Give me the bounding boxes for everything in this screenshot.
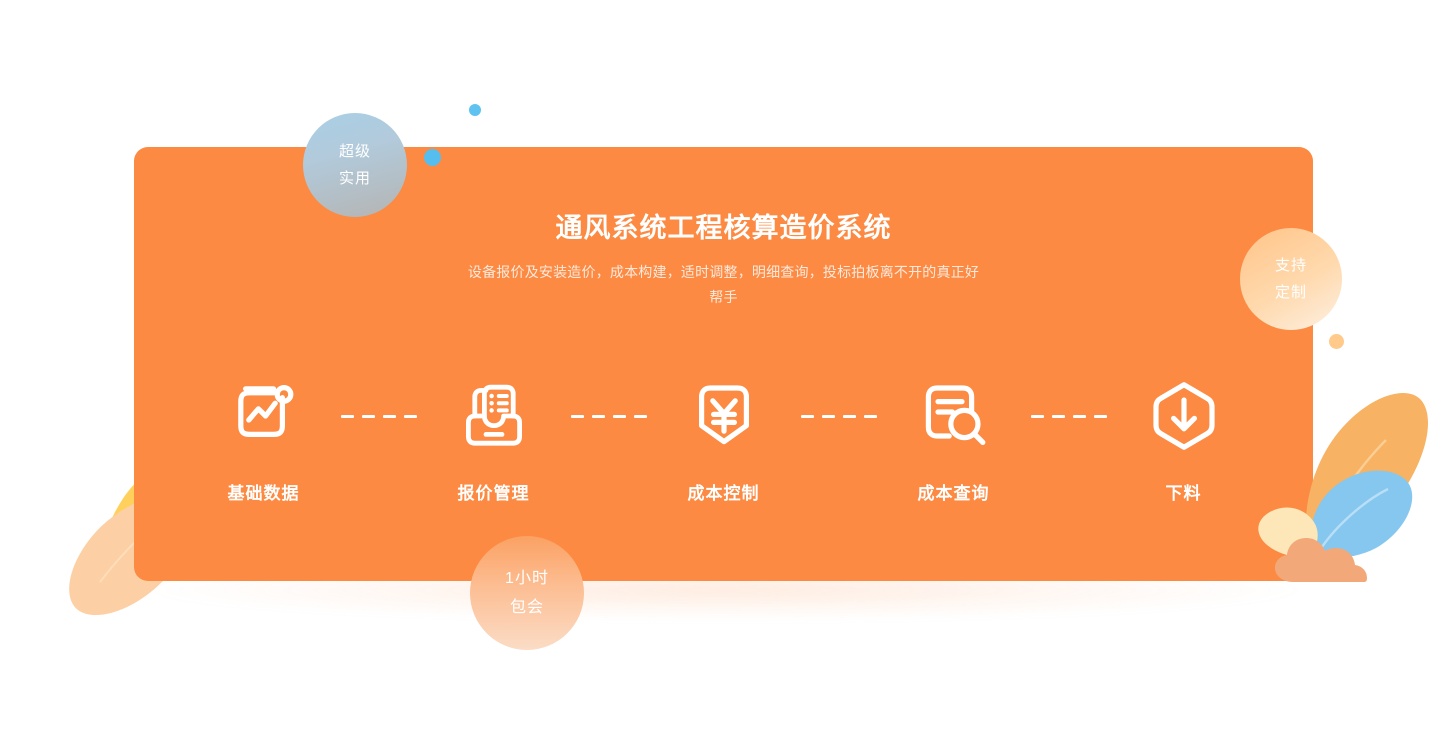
badge-one-hour-mastery: 1小时 包会 bbox=[470, 536, 584, 650]
hero-card: 通风系统工程核算造价系统 设备报价及安装造价，成本构建，适时调整，明细查询，投标… bbox=[134, 147, 1313, 581]
feature-list: 基础数据 bbox=[134, 373, 1313, 504]
badge-super-practical: 超级 实用 bbox=[303, 113, 407, 217]
yuan-shield-icon bbox=[681, 373, 767, 459]
feature-item-cost-query[interactable]: 成本查询 bbox=[880, 373, 1028, 504]
decorative-dot-orange bbox=[1329, 334, 1344, 349]
chart-square-icon bbox=[221, 373, 307, 459]
feature-item-cost-control[interactable]: 成本控制 bbox=[650, 373, 798, 504]
connector-dashes bbox=[568, 373, 650, 459]
badge-line-1: 1小时 bbox=[505, 564, 549, 593]
decorative-dot-blue-small bbox=[469, 104, 481, 116]
leaf-right-orange-icon bbox=[1306, 393, 1428, 557]
feature-label: 基础数据 bbox=[228, 479, 300, 504]
connector-dashes bbox=[1028, 373, 1110, 459]
inbox-documents-icon bbox=[451, 373, 537, 459]
page-subtitle: 设备报价及安装造价，成本构建，适时调整，明细查询，投标拍板离不开的真正好帮手 bbox=[464, 260, 984, 310]
badge-line-2: 定制 bbox=[1275, 279, 1307, 306]
page-root: 通风系统工程核算造价系统 设备报价及安装造价，成本构建，适时调整，明细查询，投标… bbox=[0, 0, 1440, 730]
badge-line-1: 支持 bbox=[1275, 252, 1307, 279]
feature-label: 下料 bbox=[1166, 479, 1202, 504]
document-search-icon bbox=[911, 373, 997, 459]
hexagon-download-icon bbox=[1141, 373, 1227, 459]
connector-dashes bbox=[798, 373, 880, 459]
feature-item-quote-management[interactable]: 报价管理 bbox=[420, 373, 568, 504]
badge-line-2: 实用 bbox=[339, 165, 371, 192]
badge-line-1: 超级 bbox=[339, 138, 371, 165]
badge-supports-customization: 支持 定制 bbox=[1240, 228, 1342, 330]
feature-label: 报价管理 bbox=[458, 479, 530, 504]
page-title: 通风系统工程核算造价系统 bbox=[134, 212, 1313, 244]
feature-item-material-cutting[interactable]: 下料 bbox=[1110, 373, 1258, 504]
decorative-dot-blue-medium bbox=[424, 149, 441, 166]
badge-line-2: 包会 bbox=[510, 593, 544, 622]
feature-label: 成本控制 bbox=[688, 479, 760, 504]
feature-item-basic-data[interactable]: 基础数据 bbox=[190, 373, 338, 504]
leaf-right-blue-icon bbox=[1310, 471, 1412, 559]
feature-label: 成本查询 bbox=[918, 479, 990, 504]
connector-dashes bbox=[338, 373, 420, 459]
